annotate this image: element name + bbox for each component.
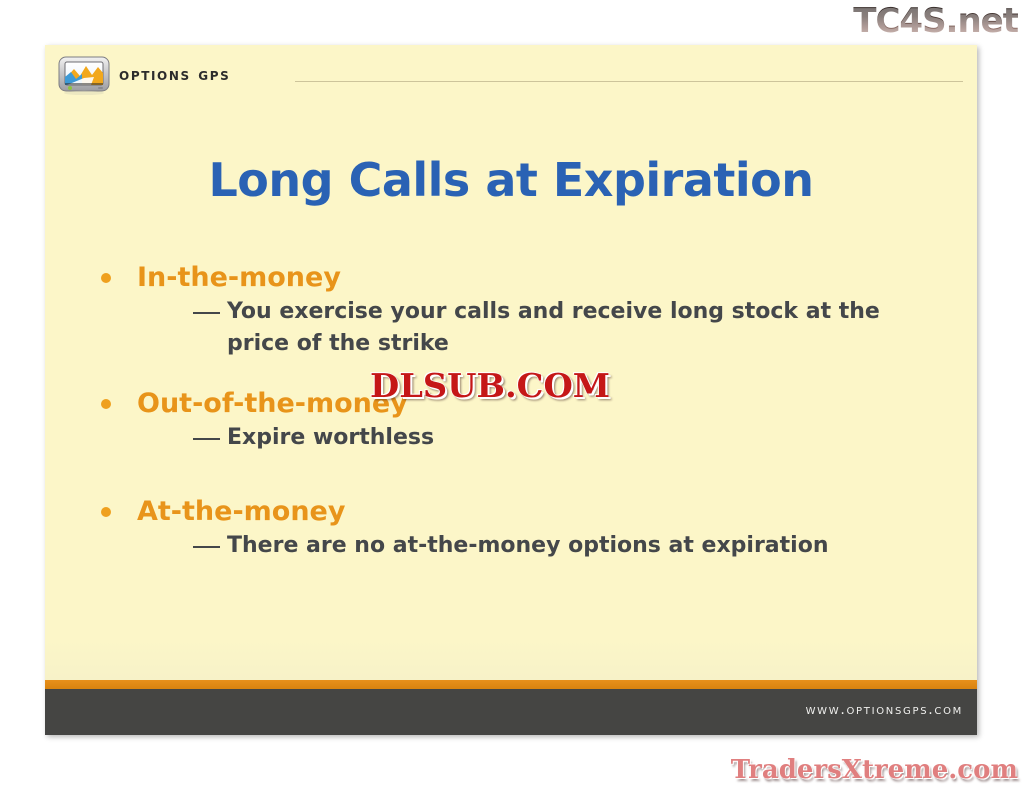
bullet-group-in-the-money: In-the-money You exercise your calls and… [93,260,947,360]
em-dash-icon [193,546,220,548]
sub-bullet-text: There are no at-the-money options at exp… [227,533,828,558]
spacer [93,454,947,494]
bullet-label: At-the-money [137,496,345,527]
slide-header: Options GPS [45,45,977,103]
bullet-dot-icon [101,273,111,283]
footer-url: www.OptionsGPS.com [806,702,963,718]
slide-title: Long Calls at Expiration [45,152,977,208]
sub-bullet-item: There are no at-the-money options at exp… [193,530,947,562]
sub-bullet-item: Expire worthless [193,422,947,454]
slide-footer: www.OptionsGPS.com [45,689,977,735]
slide-body: In-the-money You exercise your calls and… [93,260,947,562]
em-dash-icon [193,312,220,314]
sub-bullet-text: Expire worthless [227,425,434,450]
bullet-dot-icon [101,399,111,409]
bullet-item: At-the-money [93,494,947,530]
bullet-item: In-the-money [93,260,947,296]
tc4s-watermark: TC4S.net [853,2,1018,40]
dlsub-watermark: DLSUB.COM [370,368,610,404]
gps-device-icon [58,55,112,95]
bullet-label: In-the-money [137,262,341,293]
brand-label: Options GPS [119,65,230,85]
footer-stripe [45,680,977,689]
presentation-slide: Options GPS Long Calls at Expiration In-… [45,45,977,735]
header-divider [295,81,963,82]
bullet-label: Out-of-the-money [137,388,408,419]
tradersxtreme-watermark: TradersXtreme.com [731,755,1018,785]
bullet-dot-icon [101,507,111,517]
bullet-group-at-the-money: At-the-money There are no at-the-money o… [93,494,947,562]
em-dash-icon [193,438,220,440]
sub-bullet-item: You exercise your calls and receive long… [193,296,947,360]
sub-bullet-text: You exercise your calls and receive long… [227,299,880,356]
